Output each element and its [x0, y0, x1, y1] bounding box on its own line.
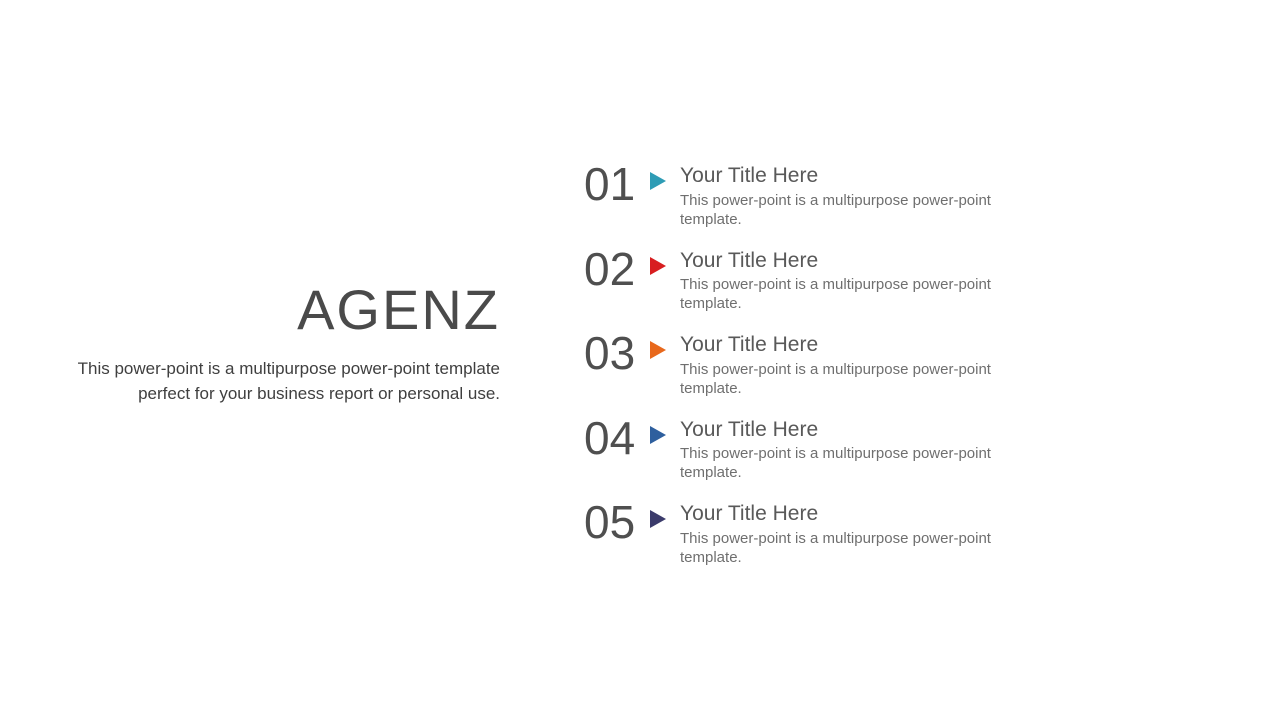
- list-item-number: 01: [584, 160, 650, 208]
- page-title: AGENZ: [60, 282, 500, 338]
- play-triangle-icon: [650, 412, 680, 444]
- list-item[interactable]: 01 Your Title Here This power-point is a…: [584, 158, 1084, 243]
- list-item-number: 02: [584, 245, 650, 293]
- play-triangle-shape: [650, 510, 666, 528]
- play-triangle-shape: [650, 426, 666, 444]
- list-item-body: Your Title Here This power-point is a mu…: [680, 496, 1084, 567]
- list-item-description: This power-point is a multipurpose power…: [680, 191, 1052, 229]
- list-item-description: This power-point is a multipurpose power…: [680, 275, 1052, 313]
- slide-canvas: AGENZ This power-point is a multipurpose…: [0, 0, 1280, 720]
- play-triangle-shape: [650, 257, 666, 275]
- list-item-body: Your Title Here This power-point is a mu…: [680, 158, 1084, 229]
- list-item-number: 03: [584, 329, 650, 377]
- play-triangle-shape: [650, 172, 666, 190]
- list-item-description: This power-point is a multipurpose power…: [680, 360, 1052, 398]
- list-item-title: Your Title Here: [680, 418, 1084, 443]
- play-triangle-icon: [650, 327, 680, 359]
- list-item-description: This power-point is a multipurpose power…: [680, 444, 1052, 482]
- list-item[interactable]: 02 Your Title Here This power-point is a…: [584, 243, 1084, 328]
- list-item[interactable]: 05 Your Title Here This power-point is a…: [584, 496, 1084, 581]
- list-item-body: Your Title Here This power-point is a mu…: [680, 243, 1084, 314]
- list-item[interactable]: 04 Your Title Here This power-point is a…: [584, 412, 1084, 497]
- list-item-title: Your Title Here: [680, 502, 1084, 527]
- list-item-body: Your Title Here This power-point is a mu…: [680, 327, 1084, 398]
- list-item-body: Your Title Here This power-point is a mu…: [680, 412, 1084, 483]
- agenda-list: 01 Your Title Here This power-point is a…: [584, 158, 1084, 581]
- list-item-number: 04: [584, 414, 650, 462]
- slide-heading-block: AGENZ This power-point is a multipurpose…: [60, 282, 500, 406]
- list-item-number: 05: [584, 498, 650, 546]
- slide-description: This power-point is a multipurpose power…: [60, 356, 500, 406]
- list-item-title: Your Title Here: [680, 164, 1084, 189]
- list-item[interactable]: 03 Your Title Here This power-point is a…: [584, 327, 1084, 412]
- list-item-title: Your Title Here: [680, 333, 1084, 358]
- play-triangle-icon: [650, 496, 680, 528]
- play-triangle-icon: [650, 158, 680, 190]
- play-triangle-icon: [650, 243, 680, 275]
- list-item-description: This power-point is a multipurpose power…: [680, 529, 1052, 567]
- play-triangle-shape: [650, 341, 666, 359]
- list-item-title: Your Title Here: [680, 249, 1084, 274]
